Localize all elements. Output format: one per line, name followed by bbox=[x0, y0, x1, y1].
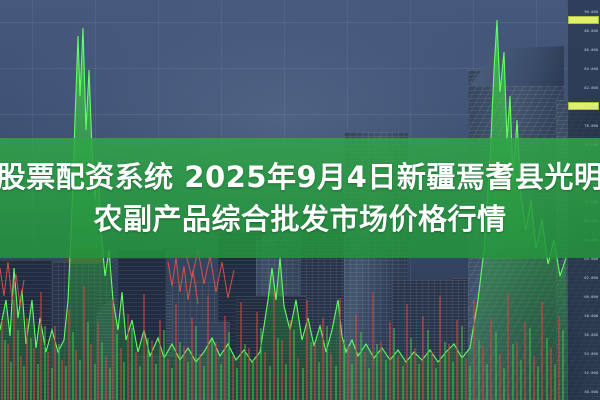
axis-tick: 56.000 bbox=[584, 333, 598, 338]
axis-tick: 88.000 bbox=[584, 29, 598, 34]
axis-tick: 78.000 bbox=[584, 124, 598, 129]
price-tag-highlight bbox=[568, 16, 599, 24]
axis-tick: 82.000 bbox=[584, 86, 598, 91]
banner-title: 股票配资系统 2025年9月4日新疆焉耆县光明 农副产品综合批发市场价格行情 bbox=[0, 138, 600, 258]
axis-tick: 84.000 bbox=[584, 67, 598, 72]
axis-tick: 86.000 bbox=[584, 48, 598, 53]
axis-tick: 60.000 bbox=[584, 295, 598, 300]
axis-tick: 62.000 bbox=[584, 276, 598, 281]
axis-tick: 90.000 bbox=[584, 10, 598, 15]
title-line-1: 股票配资系统 2025年9月4日新疆焉耆县光明 bbox=[0, 158, 600, 196]
stock-chart-banner: 90.000 88.000 86.000 84.000 82.000 80.00… bbox=[0, 0, 600, 400]
title-line-2: 农副产品综合批发市场价格行情 bbox=[93, 200, 506, 238]
axis-tick: 52.000 bbox=[584, 371, 598, 376]
axis-tick: 54.000 bbox=[584, 352, 598, 357]
axis-tick: 58.000 bbox=[584, 314, 598, 319]
axis-tick: 50.000 bbox=[584, 390, 598, 395]
axis-tick: 80.000 bbox=[584, 105, 598, 110]
secondary-red-series bbox=[0, 250, 234, 306]
